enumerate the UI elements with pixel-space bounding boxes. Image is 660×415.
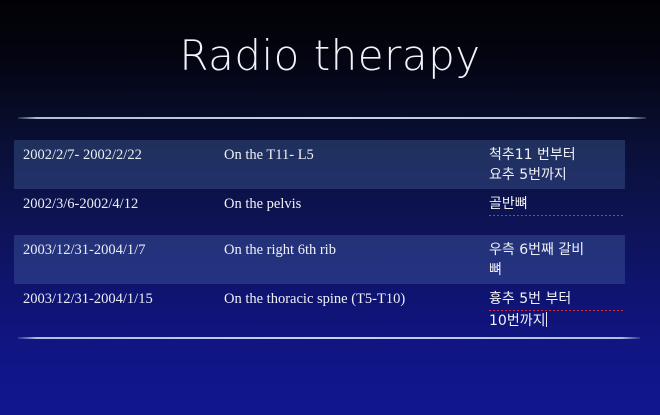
korean-line: 척추11 번부터 — [489, 145, 625, 165]
bottom-divider-rule — [18, 337, 640, 339]
cell-treatment-site: On the pelvis — [224, 194, 489, 215]
korean-line: 뼈 — [489, 260, 625, 280]
korean-line-misspelled: 골반뼈 — [489, 194, 625, 216]
cell-korean-description: 척추11 번부터 요추 5번까지 — [489, 145, 625, 185]
korean-line: 우측 6번째 갈비 — [489, 240, 625, 260]
cell-korean-description: 골반뼈 — [489, 194, 625, 216]
slide-title: Radio therapy — [0, 30, 660, 82]
cell-date: 2002/3/6-2002/4/12 — [14, 194, 224, 215]
cell-treatment-site: On the thoracic spine (T5-T10) — [224, 289, 489, 310]
korean-line-misspelled: 흉추 5번 부터 — [489, 289, 625, 311]
korean-line: 요추 5번까지 — [489, 165, 625, 185]
table-row: 2002/2/7- 2002/2/22 On the T11- L5 척추11 … — [14, 140, 625, 189]
cell-treatment-site: On the right 6th rib — [224, 240, 489, 261]
cell-date: 2003/12/31-2004/1/15 — [14, 289, 224, 310]
table-row: 2003/12/31-2004/1/15 On the thoracic spi… — [14, 284, 625, 335]
korean-line: 10번까지 — [489, 311, 625, 331]
cell-date: 2002/2/7- 2002/2/22 — [14, 145, 224, 166]
cell-date: 2003/12/31-2004/1/7 — [14, 240, 224, 261]
treatment-table: 2002/2/7- 2002/2/22 On the T11- L5 척추11 … — [0, 140, 660, 335]
text-caret — [546, 312, 547, 327]
table-row: 2003/12/31-2004/1/7 On the right 6th rib… — [14, 235, 625, 284]
table-row: 2002/3/6-2002/4/12 On the pelvis 골반뼈 — [14, 189, 625, 235]
cell-treatment-site: On the T11- L5 — [224, 145, 489, 166]
presentation-slide: Radio therapy 2002/2/7- 2002/2/22 On the… — [0, 0, 660, 415]
title-divider-rule — [18, 117, 646, 119]
cell-korean-description: 우측 6번째 갈비 뼈 — [489, 240, 625, 280]
cell-korean-description: 흉추 5번 부터 10번까지 — [489, 289, 625, 331]
